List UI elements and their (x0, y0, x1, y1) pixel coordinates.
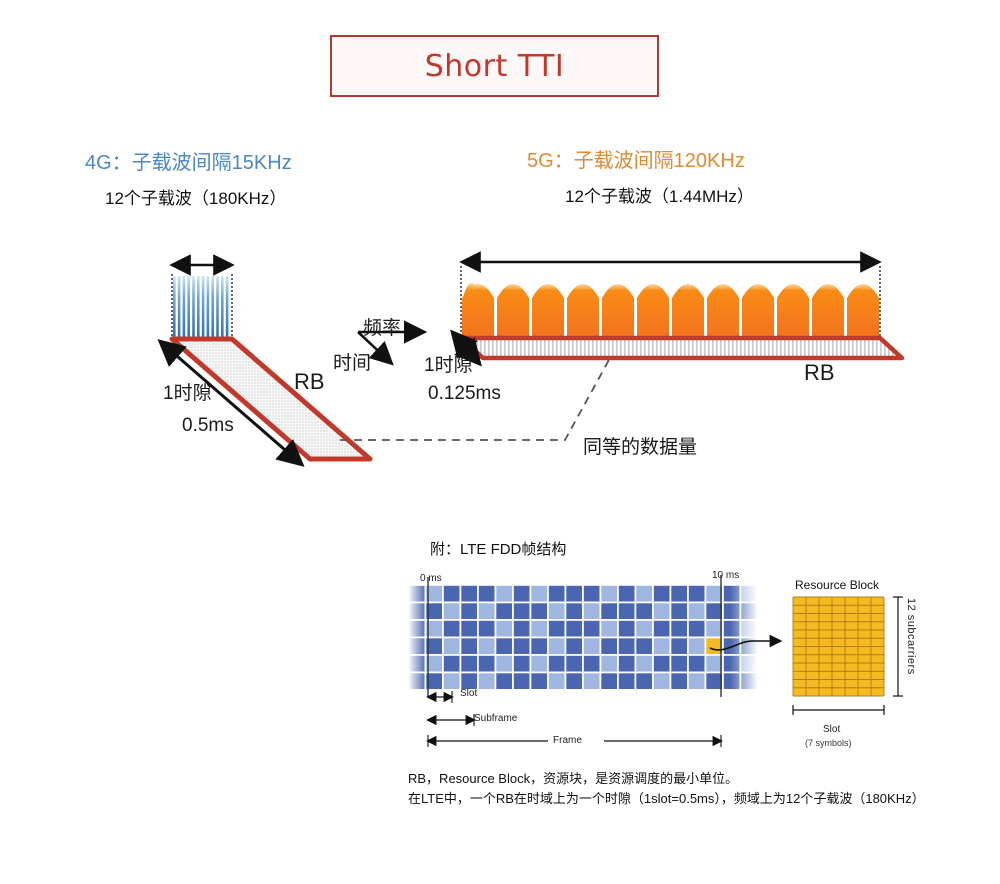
frame-cell (689, 656, 705, 672)
frame-cell (584, 673, 600, 689)
caption-line-2: 在LTE中，一个RB在时域上为一个时隙（1slot=0.5ms），频域上为12个… (408, 788, 925, 807)
dimension-label-subframe: Subframe (474, 713, 517, 724)
frame-cell (671, 586, 687, 602)
frame-cell (566, 586, 582, 602)
frame-cell (479, 586, 495, 602)
rb-symbols-label: (7 symbols) (805, 738, 852, 748)
frame-cell (549, 656, 565, 672)
equal-data-annotation: 同等的数据量 (583, 432, 697, 459)
frame-cell (706, 656, 722, 672)
frame-cell (636, 621, 652, 637)
frame-cell (461, 621, 477, 637)
frame-cell (601, 621, 617, 637)
frame-cell (531, 603, 547, 619)
frame-cell (479, 603, 495, 619)
frame-cell (619, 656, 635, 672)
frame-cell (531, 673, 547, 689)
frame-cell (549, 586, 565, 602)
resource-block-title: Resource Block (795, 578, 879, 592)
frame-cell (531, 638, 547, 654)
frame-cell (706, 586, 722, 602)
rb-horizontal-dimension (793, 705, 884, 715)
frequency-axis-label: 频率 (363, 313, 401, 340)
resource-block-cells (793, 597, 884, 696)
frame-cell (636, 586, 652, 602)
frame-cell (654, 621, 670, 637)
frame-cell (444, 621, 460, 637)
frame-cell (479, 638, 495, 654)
caption-line-1: RB，Resource Block，资源块，是资源调度的最小单位。 (408, 768, 738, 787)
frame-cell (706, 603, 722, 619)
frame-cell (461, 673, 477, 689)
frame-cell (496, 621, 512, 637)
frame-cell (496, 586, 512, 602)
title-box: Short TTI (330, 35, 659, 97)
resource-block-grid (785, 595, 945, 745)
frame-cell (601, 673, 617, 689)
frame-cell (584, 638, 600, 654)
frame-cell (479, 656, 495, 672)
frame-cell (496, 638, 512, 654)
frame-cell (496, 656, 512, 672)
frame-cell (671, 621, 687, 637)
frame-cell (514, 638, 530, 654)
subheading-5g: 12个子载波（1.44MHz） (565, 182, 754, 207)
frame-cell (479, 621, 495, 637)
page-title: Short TTI (425, 49, 565, 84)
frame-cell (601, 586, 617, 602)
frame-cell (566, 621, 582, 637)
frame-cell (531, 656, 547, 672)
frame-cell (444, 673, 460, 689)
frame-cell (689, 673, 705, 689)
frame-cell (444, 603, 460, 619)
frame-cell (636, 603, 652, 619)
frame-cell (654, 603, 670, 619)
frame-cell (514, 603, 530, 619)
frame-cell (514, 586, 530, 602)
frame-cell (671, 656, 687, 672)
frame-cell (566, 656, 582, 672)
frame-cell (584, 621, 600, 637)
frame-structure-grid (408, 585, 758, 755)
frame-cell (636, 638, 652, 654)
frame-structure-title: 附：LTE FDD帧结构 (430, 538, 566, 559)
dimension-label-slot: Slot (460, 688, 477, 699)
frame-cell (689, 638, 705, 654)
frame-cell (566, 638, 582, 654)
frame-cell (514, 673, 530, 689)
frame-cell (671, 638, 687, 654)
frame-cell (601, 638, 617, 654)
frame-cell (479, 673, 495, 689)
frame-cell (461, 586, 477, 602)
frame-cell (601, 656, 617, 672)
frame-cell (496, 603, 512, 619)
frame-cell (706, 673, 722, 689)
frame-cell (584, 603, 600, 619)
subcarrier-spikes-4g (172, 274, 232, 339)
frame-cell (619, 621, 635, 637)
frame-cell (531, 586, 547, 602)
frame-cell (654, 656, 670, 672)
frame-grid-cells (409, 586, 757, 689)
frame-cell (654, 638, 670, 654)
frame-cell (549, 603, 565, 619)
frame-cell (549, 638, 565, 654)
rb-subcarriers-label: 12 subcarriers (905, 598, 917, 675)
frame-cell (566, 603, 582, 619)
frame-cell (549, 673, 565, 689)
rb-label-5g: RB (804, 360, 835, 386)
frame-cell (566, 673, 582, 689)
frame-cell (444, 586, 460, 602)
frame-end-time-label: 10 ms (712, 570, 739, 581)
frame-cell (689, 603, 705, 619)
frame-cell (671, 603, 687, 619)
subcarrier-lobe-group-5g (461, 266, 880, 340)
frame-cell (689, 621, 705, 637)
frame-cell (706, 621, 722, 637)
frame-cell (531, 621, 547, 637)
frame-cell (496, 673, 512, 689)
heading-5g: 5G：子载波间隔120KHz (527, 144, 745, 173)
frame-cell (636, 656, 652, 672)
frame-cell (654, 673, 670, 689)
slot-label-4g-line2: 0.5ms (182, 415, 234, 437)
rb-vertical-dimension (893, 597, 903, 696)
dimension-label-frame: Frame (553, 735, 582, 746)
frame-cell (461, 656, 477, 672)
frame-cell (444, 638, 460, 654)
frame-cell (461, 603, 477, 619)
frame-cell (671, 673, 687, 689)
frame-cell (514, 656, 530, 672)
frame-cell (619, 586, 635, 602)
leader-line-left (340, 358, 610, 440)
frame-cell (619, 673, 635, 689)
frame-cell-highlighted (706, 638, 722, 654)
frame-start-time-label: 0 ms (420, 573, 442, 584)
slot-label-4g-line1: 1时隙 (163, 378, 212, 405)
rb-slot-label: Slot (823, 724, 840, 735)
frame-cell (584, 586, 600, 602)
subheading-4g: 12个子载波（180KHz） (105, 184, 286, 209)
frame-cell (689, 586, 705, 602)
frame-cell (461, 638, 477, 654)
frame-cell (619, 603, 635, 619)
frame-cell (601, 603, 617, 619)
frame-cell (444, 656, 460, 672)
frame-cell (619, 638, 635, 654)
frame-cell (549, 621, 565, 637)
frame-cell (584, 656, 600, 672)
heading-4g: 4G：子载波间隔15KHz (85, 146, 292, 175)
frame-cell (636, 673, 652, 689)
frame-cell (654, 586, 670, 602)
frame-cell (514, 621, 530, 637)
